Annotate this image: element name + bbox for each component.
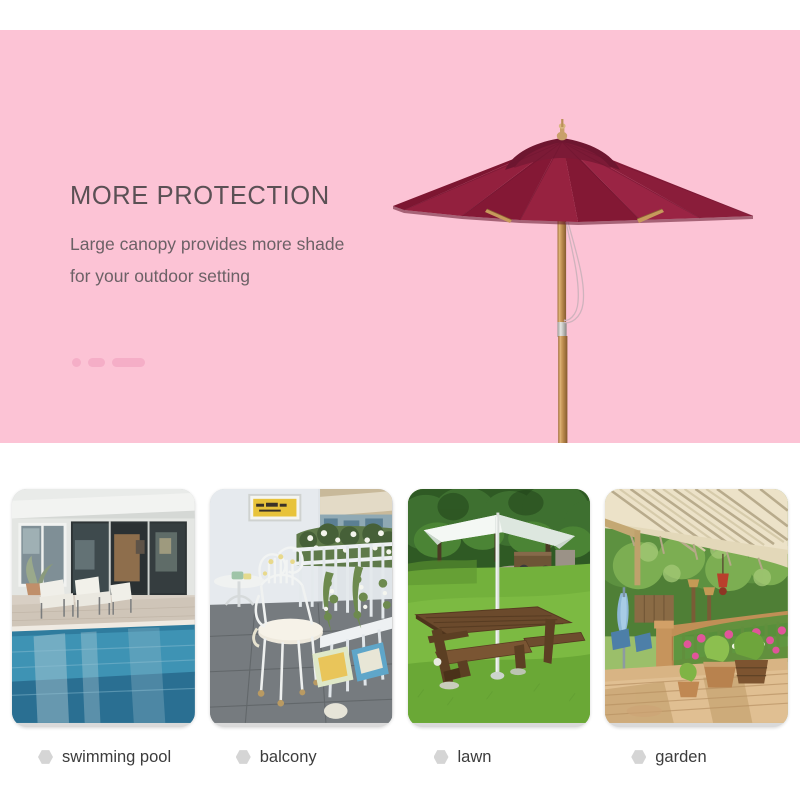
caption-swimming-pool: swimming pool — [12, 740, 195, 774]
caption-label: lawn — [458, 748, 492, 767]
hero-title: MORE PROTECTION — [70, 182, 400, 210]
umbrella-pull-cord — [564, 222, 584, 323]
pagination-dot-1[interactable] — [72, 358, 81, 367]
swimming-pool-photo — [12, 489, 195, 723]
usage-scenario-gallery — [0, 489, 800, 727]
hero-banner: MORE PROTECTION Large canopy provides mo… — [0, 30, 800, 443]
hexagon-bullet-icon — [631, 750, 646, 765]
caption-label: swimming pool — [62, 748, 171, 767]
umbrella-canopy — [393, 138, 753, 225]
scenario-card-lawn[interactable] — [408, 489, 591, 727]
pagination-dot-3-active[interactable] — [112, 358, 145, 367]
hero-subtitle: Large canopy provides more shade for you… — [70, 229, 400, 293]
garden-photo — [605, 489, 788, 723]
hexagon-bullet-icon — [38, 750, 53, 765]
hero-subtitle-line-1: Large canopy provides more shade — [70, 229, 400, 261]
wooden-fence — [635, 595, 674, 623]
product-feature-page: MORE PROTECTION Large canopy provides mo… — [0, 0, 800, 800]
scenario-card-garden[interactable] — [605, 489, 788, 727]
lawn-photo — [408, 489, 591, 723]
scenario-card-swimming-pool[interactable] — [12, 489, 195, 727]
scenario-caption-row: swimming pool balcony lawn garden — [0, 740, 800, 774]
hexagon-bullet-icon — [236, 750, 251, 765]
hero-subtitle-line-2: for your outdoor setting — [70, 261, 400, 293]
caption-balcony: balcony — [210, 740, 393, 774]
caption-garden: garden — [605, 740, 788, 774]
umbrella-finial — [557, 119, 567, 140]
pole-collar — [557, 322, 566, 337]
balcony-photo — [210, 489, 393, 723]
wall-sign — [249, 495, 300, 521]
scenario-card-balcony[interactable] — [210, 489, 393, 727]
hexagon-bullet-icon — [434, 750, 449, 765]
carousel-pagination[interactable] — [72, 358, 145, 367]
caption-lawn: lawn — [408, 740, 591, 774]
caption-label: balcony — [260, 748, 317, 767]
caption-label: garden — [655, 748, 706, 767]
pagination-dot-2[interactable] — [88, 358, 105, 367]
hero-copy-block: MORE PROTECTION Large canopy provides mo… — [70, 182, 400, 293]
